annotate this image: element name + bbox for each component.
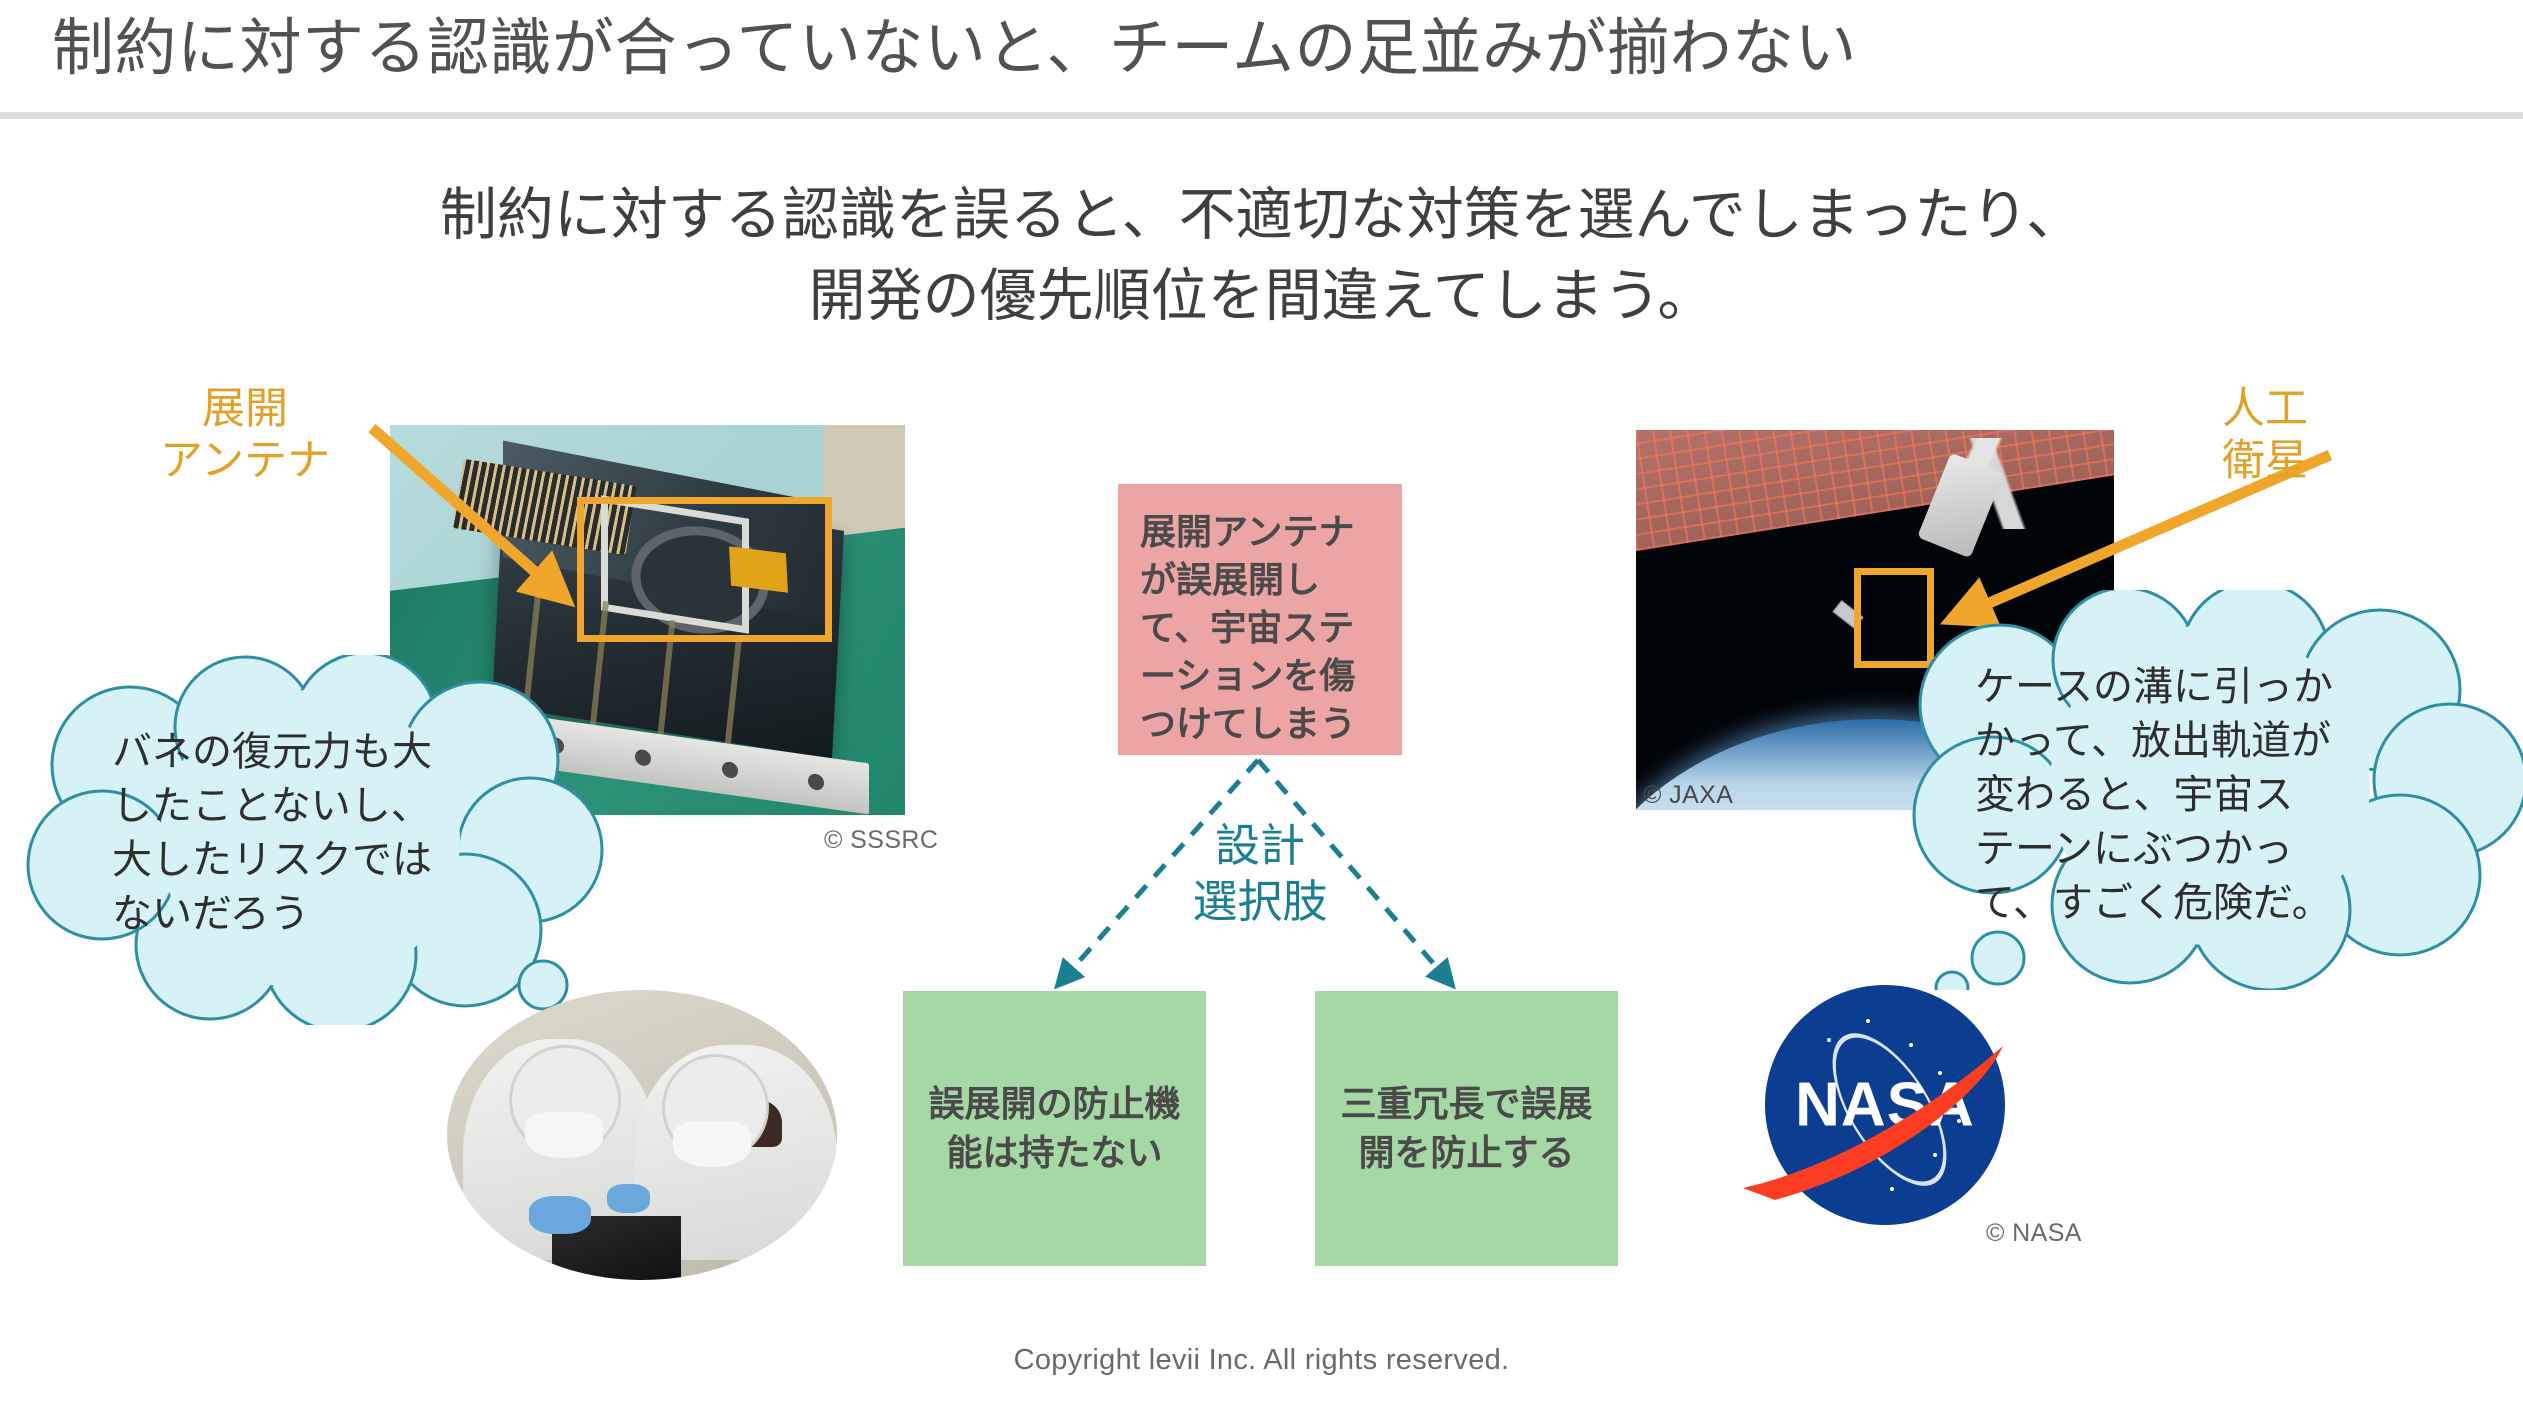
engineers-photo — [447, 990, 837, 1280]
design-options-label: 設計 選択肢 — [1145, 818, 1375, 930]
cubesat-photo-credit: © SSSRC — [824, 826, 938, 855]
engineer-glove — [529, 1196, 591, 1234]
antenna-callout-label: 展開 アンテナ — [130, 383, 360, 488]
subtitle-block: 制約に対する認識を誤ると、不適切な対策を選んでしまったり、 開発の優先順位を間違… — [0, 175, 2523, 337]
engineer-mask — [673, 1121, 751, 1167]
subtitle-line-1: 制約に対する認識を誤ると、不適切な対策を選んでしまったり、 — [0, 175, 2523, 256]
slide-canvas: 制約に対する認識が合っていないと、チームの足並みが揃わない 制約に対する認識を誤… — [0, 0, 2523, 1408]
satellite-callout-label: 人工 衛星 — [2190, 383, 2340, 488]
nasa-logo: NASA — [1765, 985, 2005, 1225]
antenna-highlight-box — [577, 497, 832, 642]
option-box-no-prevention: 誤展開の防止機能は持たない — [903, 991, 1206, 1266]
engineer-mask — [525, 1112, 603, 1158]
title-divider — [0, 112, 2523, 119]
risk-box: 展開アンテナが誤展開して、宇宙ステーションを傷つけてしまう — [1118, 484, 1402, 755]
option-box-triple-redundancy: 三重冗長で誤展開を防止する — [1315, 991, 1618, 1266]
nasa-photo-credit: © NASA — [1986, 1219, 2082, 1248]
right-thought-bubble-text: ケースの溝に引っか かって、放出軌道が 変わると、宇宙ス テーンにぶつかっ て、… — [1975, 660, 2455, 930]
footer-copyright: Copyright levii Inc. All rights reserved… — [0, 1344, 2523, 1377]
subtitle-line-2: 開発の優先順位を間違えてしまう。 — [0, 256, 2523, 337]
page-title: 制約に対する認識が合っていないと、チームの足並みが揃わない — [52, 12, 2452, 86]
engineer-glove — [607, 1184, 650, 1213]
iss-photo-credit: © JAXA — [1643, 781, 1733, 810]
left-thought-bubble-text: バネの復元力も大 したことないし、 大したリスクでは ないだろう — [112, 725, 562, 941]
